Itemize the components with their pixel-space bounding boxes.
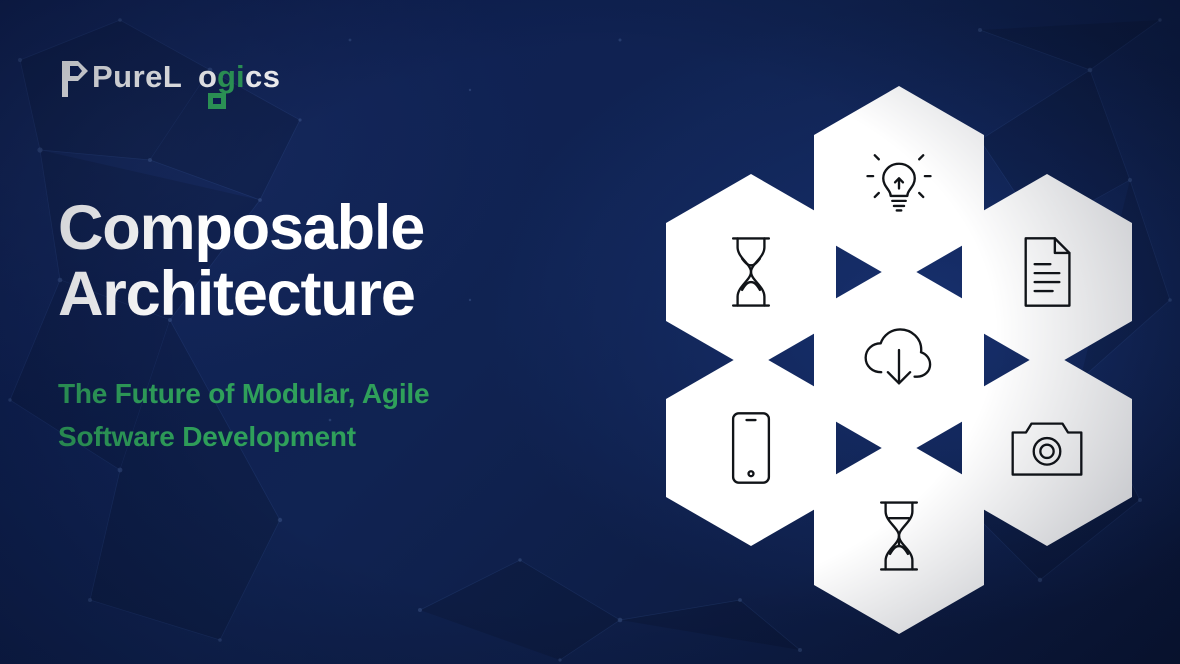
slide-canvas: PureL o g i cs Composable Architecture T… <box>0 0 1180 664</box>
logo-mark <box>62 61 88 97</box>
title-line-2: Architecture <box>58 262 618 328</box>
cloud-download-icon <box>859 325 939 395</box>
hex-tile-hourglass-bottom <box>814 438 984 634</box>
lightbulb-idea-icon <box>863 148 935 220</box>
svg-text:PureL: PureL <box>92 59 182 94</box>
title-line-1: Composable <box>58 193 424 263</box>
hourglass-icon <box>870 498 928 574</box>
smartphone-icon <box>728 410 774 486</box>
hex-tile-cloud-download <box>814 262 984 458</box>
hex-tile-camera <box>962 350 1132 546</box>
svg-text:g: g <box>217 59 236 94</box>
document-file-icon <box>1016 235 1078 309</box>
hex-tile-hourglass-upper <box>666 174 836 370</box>
hex-tile-smartphone <box>666 350 836 546</box>
hex-tile-document <box>962 174 1132 370</box>
purelogics-logo: PureL o g i cs <box>58 58 290 114</box>
page-subtitle: The Future of Modular, Agile Software De… <box>58 372 578 459</box>
camera-icon <box>1009 417 1085 479</box>
hourglass-icon <box>721 234 781 310</box>
svg-text:i: i <box>236 59 245 94</box>
subtitle-line-1: The Future of Modular, Agile <box>58 378 429 409</box>
svg-text:cs: cs <box>245 59 280 94</box>
hex-tile-lightbulb <box>814 86 984 282</box>
svg-text:o: o <box>198 59 217 94</box>
hexagon-cluster <box>648 78 1148 588</box>
subtitle-line-2: Software Development <box>58 421 356 452</box>
page-title: Composable Architecture <box>58 196 618 327</box>
